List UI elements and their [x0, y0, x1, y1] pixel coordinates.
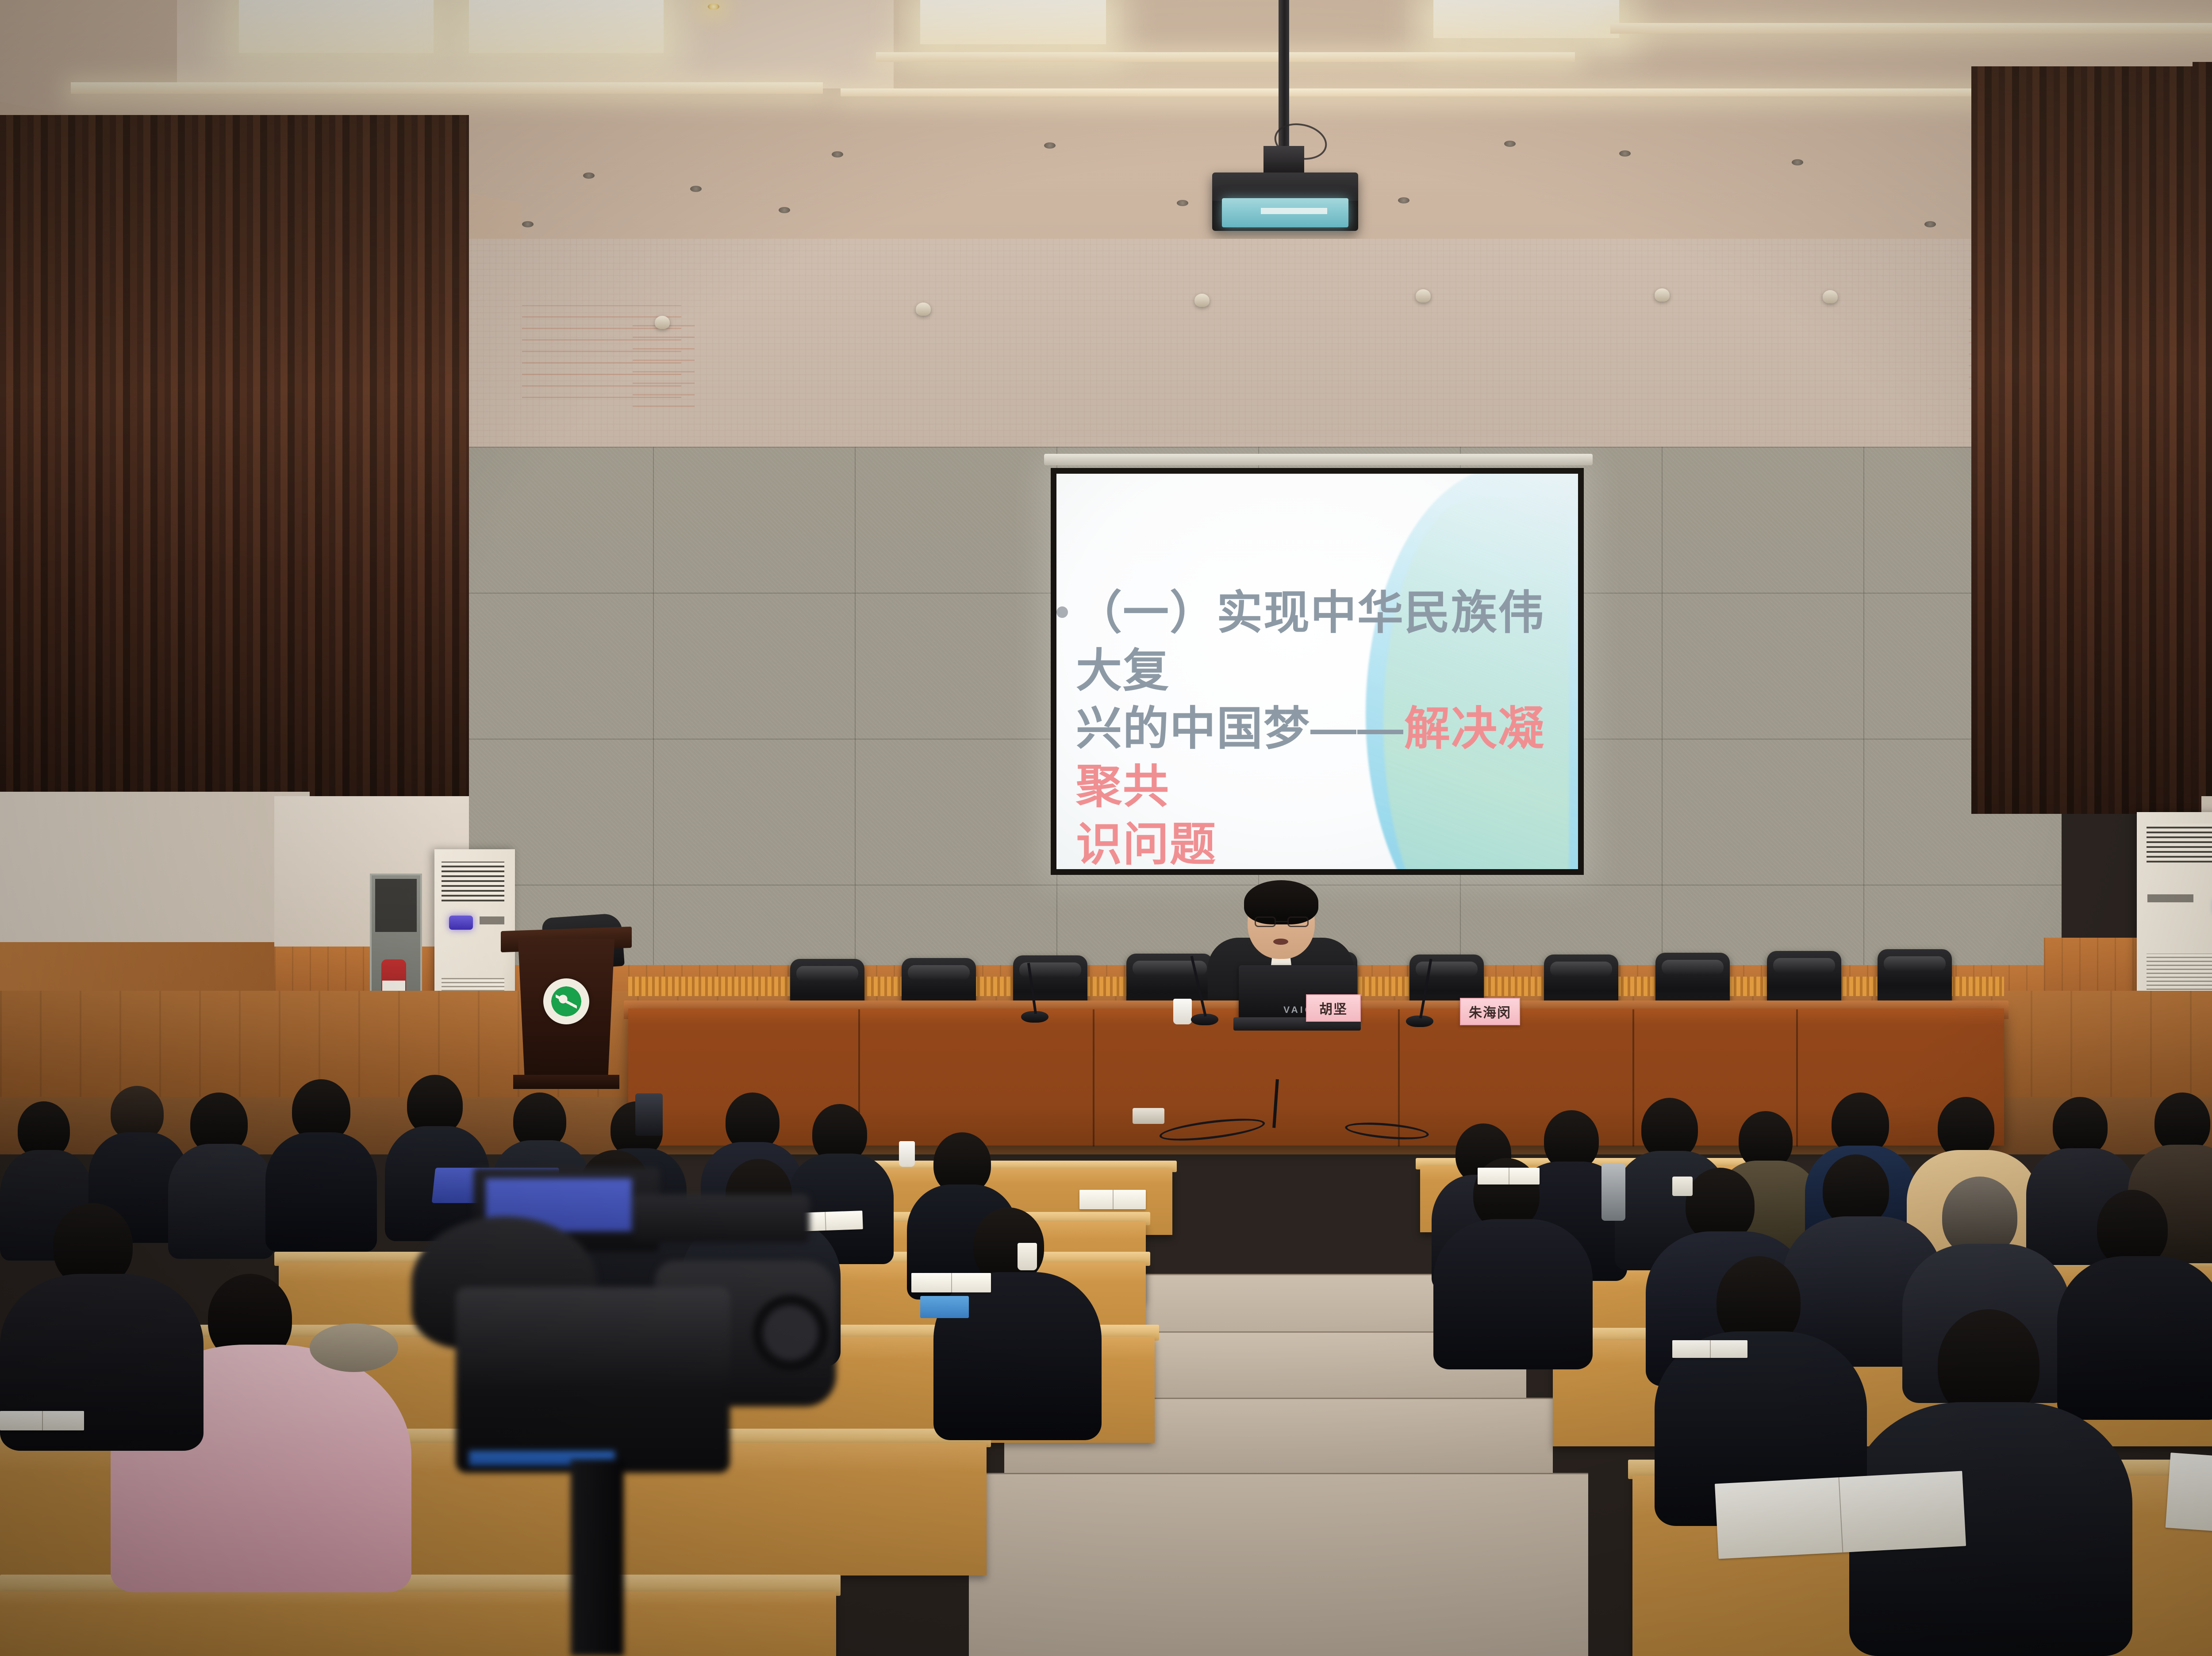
screen-roller-housing: [1044, 454, 1593, 465]
slide-line-3-highlight: 识问题: [1076, 819, 1217, 869]
slide-line-1: （一）实现中华民族伟大复: [1076, 587, 1545, 697]
ac-vent-top-left: [442, 862, 504, 901]
cup-audience-2[interactable]: [1018, 1243, 1037, 1270]
cup-audience-1[interactable]: [899, 1141, 915, 1167]
nameplate-speaker: 胡坚: [1306, 994, 1361, 1022]
glasses-lens-right: [1287, 916, 1309, 927]
downlight-icon-13: [1177, 200, 1188, 206]
wall-stain-2: [633, 323, 695, 407]
downlight-icon-1: [708, 4, 719, 10]
ceiling-cove-left: [71, 82, 823, 94]
head-table-seam-2: [1093, 1009, 1094, 1146]
open-notebook-7: [911, 1273, 991, 1292]
open-notebook-5: [1672, 1340, 1747, 1358]
glasses-bridge: [1276, 921, 1287, 922]
downlight-icon-5: [832, 151, 843, 157]
slide-text-block: （一）实现中华民族伟大复 兴的中国梦——解决凝聚共 识问题: [1076, 584, 1554, 869]
downlight-icon-14: [1398, 197, 1409, 203]
curtain-right-inner: [1971, 66, 2212, 814]
head-table-seam-4: [1632, 1009, 1634, 1146]
lecture-hall-scene: （一）实现中华民族伟大复 兴的中国梦——解决凝聚共 识问题 VAIO: [0, 0, 2212, 1656]
smartphone-icon[interactable]: [635, 1093, 663, 1136]
projector-bracket: [1263, 146, 1304, 173]
power-strip: [1133, 1108, 1164, 1124]
ac-brand-badge-left: [480, 916, 504, 924]
camera-tripod: [571, 1460, 624, 1656]
track-light-icon-5: [1655, 288, 1670, 302]
downlight-icon-9: [1792, 159, 1803, 165]
slide-line-2-dash: ——: [1310, 703, 1404, 755]
lectern-base: [513, 1075, 619, 1089]
open-notebook-1: [1079, 1190, 1146, 1209]
ceiling-panel-light-3: [920, 0, 1106, 44]
ceiling-panel-light-1: [239, 0, 434, 53]
camera-body: [456, 1287, 730, 1473]
ac-display-left: [449, 916, 473, 930]
video-camera-rig: [385, 1141, 854, 1656]
track-light-icon-4: [1416, 289, 1431, 303]
nameplate-second: 朱海闵: [1460, 998, 1520, 1025]
curtain-left: [0, 115, 469, 805]
ceiling-panel-light-2: [469, 0, 664, 53]
downlight-icon-6: [1044, 142, 1056, 149]
ceiling-panel-light-4: [1433, 0, 1619, 38]
projection-screen-frame: （一）实现中华民族伟大复 兴的中国梦——解决凝聚共 识问题: [1051, 468, 1584, 875]
track-light-icon-6: [1823, 290, 1838, 303]
open-notebook-6: [0, 1411, 84, 1430]
curtain-right: [2193, 62, 2212, 840]
ceiling-cove-right: [1610, 23, 2212, 34]
speaker-mouth: [1273, 939, 1288, 945]
ac-brand-badge-right: [2147, 894, 2193, 902]
speaker-glasses-icon: [1255, 916, 1309, 928]
blue-booklet: [920, 1296, 969, 1318]
downlight-icon-8: [1619, 150, 1631, 157]
track-light-icon-1: [655, 316, 670, 329]
downlight-icon-11: [522, 221, 534, 227]
downlight-icon-4: [690, 186, 702, 192]
slide-bullet-icon: [1056, 606, 1068, 618]
ceiling-cove-center: [876, 52, 1575, 62]
downlight-icon-3: [583, 172, 595, 179]
open-notebook-3: [1715, 1471, 1966, 1559]
downlight-icon-15: [1924, 221, 1936, 227]
slide-line-2-prefix: 兴的中国梦: [1076, 703, 1310, 755]
track-light-icon-3: [1194, 294, 1210, 307]
paper-cup-1[interactable]: [1173, 999, 1192, 1024]
cup-audience-3[interactable]: [1672, 1177, 1693, 1196]
downlight-icon-12: [779, 207, 790, 213]
projector-label: [1261, 208, 1327, 214]
downlight-icon-7: [1504, 141, 1516, 147]
track-light-icon-2: [916, 303, 931, 316]
paper-box-1: [1478, 1168, 1540, 1184]
cabinet-glass: [375, 879, 417, 932]
thermos-bottle[interactable]: [1601, 1163, 1625, 1221]
glasses-lens-left: [1255, 916, 1276, 927]
projection-screen: （一）实现中华民族伟大复 兴的中国梦——解决凝聚共 识问题: [1056, 474, 1578, 869]
head-table-seam-5: [1796, 1009, 1798, 1146]
camera-top-handle: [633, 1194, 810, 1243]
aisle-step-4: [969, 1473, 1588, 1656]
ac-vent-top-right: [2147, 824, 2212, 862]
institution-emblem-icon: [543, 978, 589, 1024]
